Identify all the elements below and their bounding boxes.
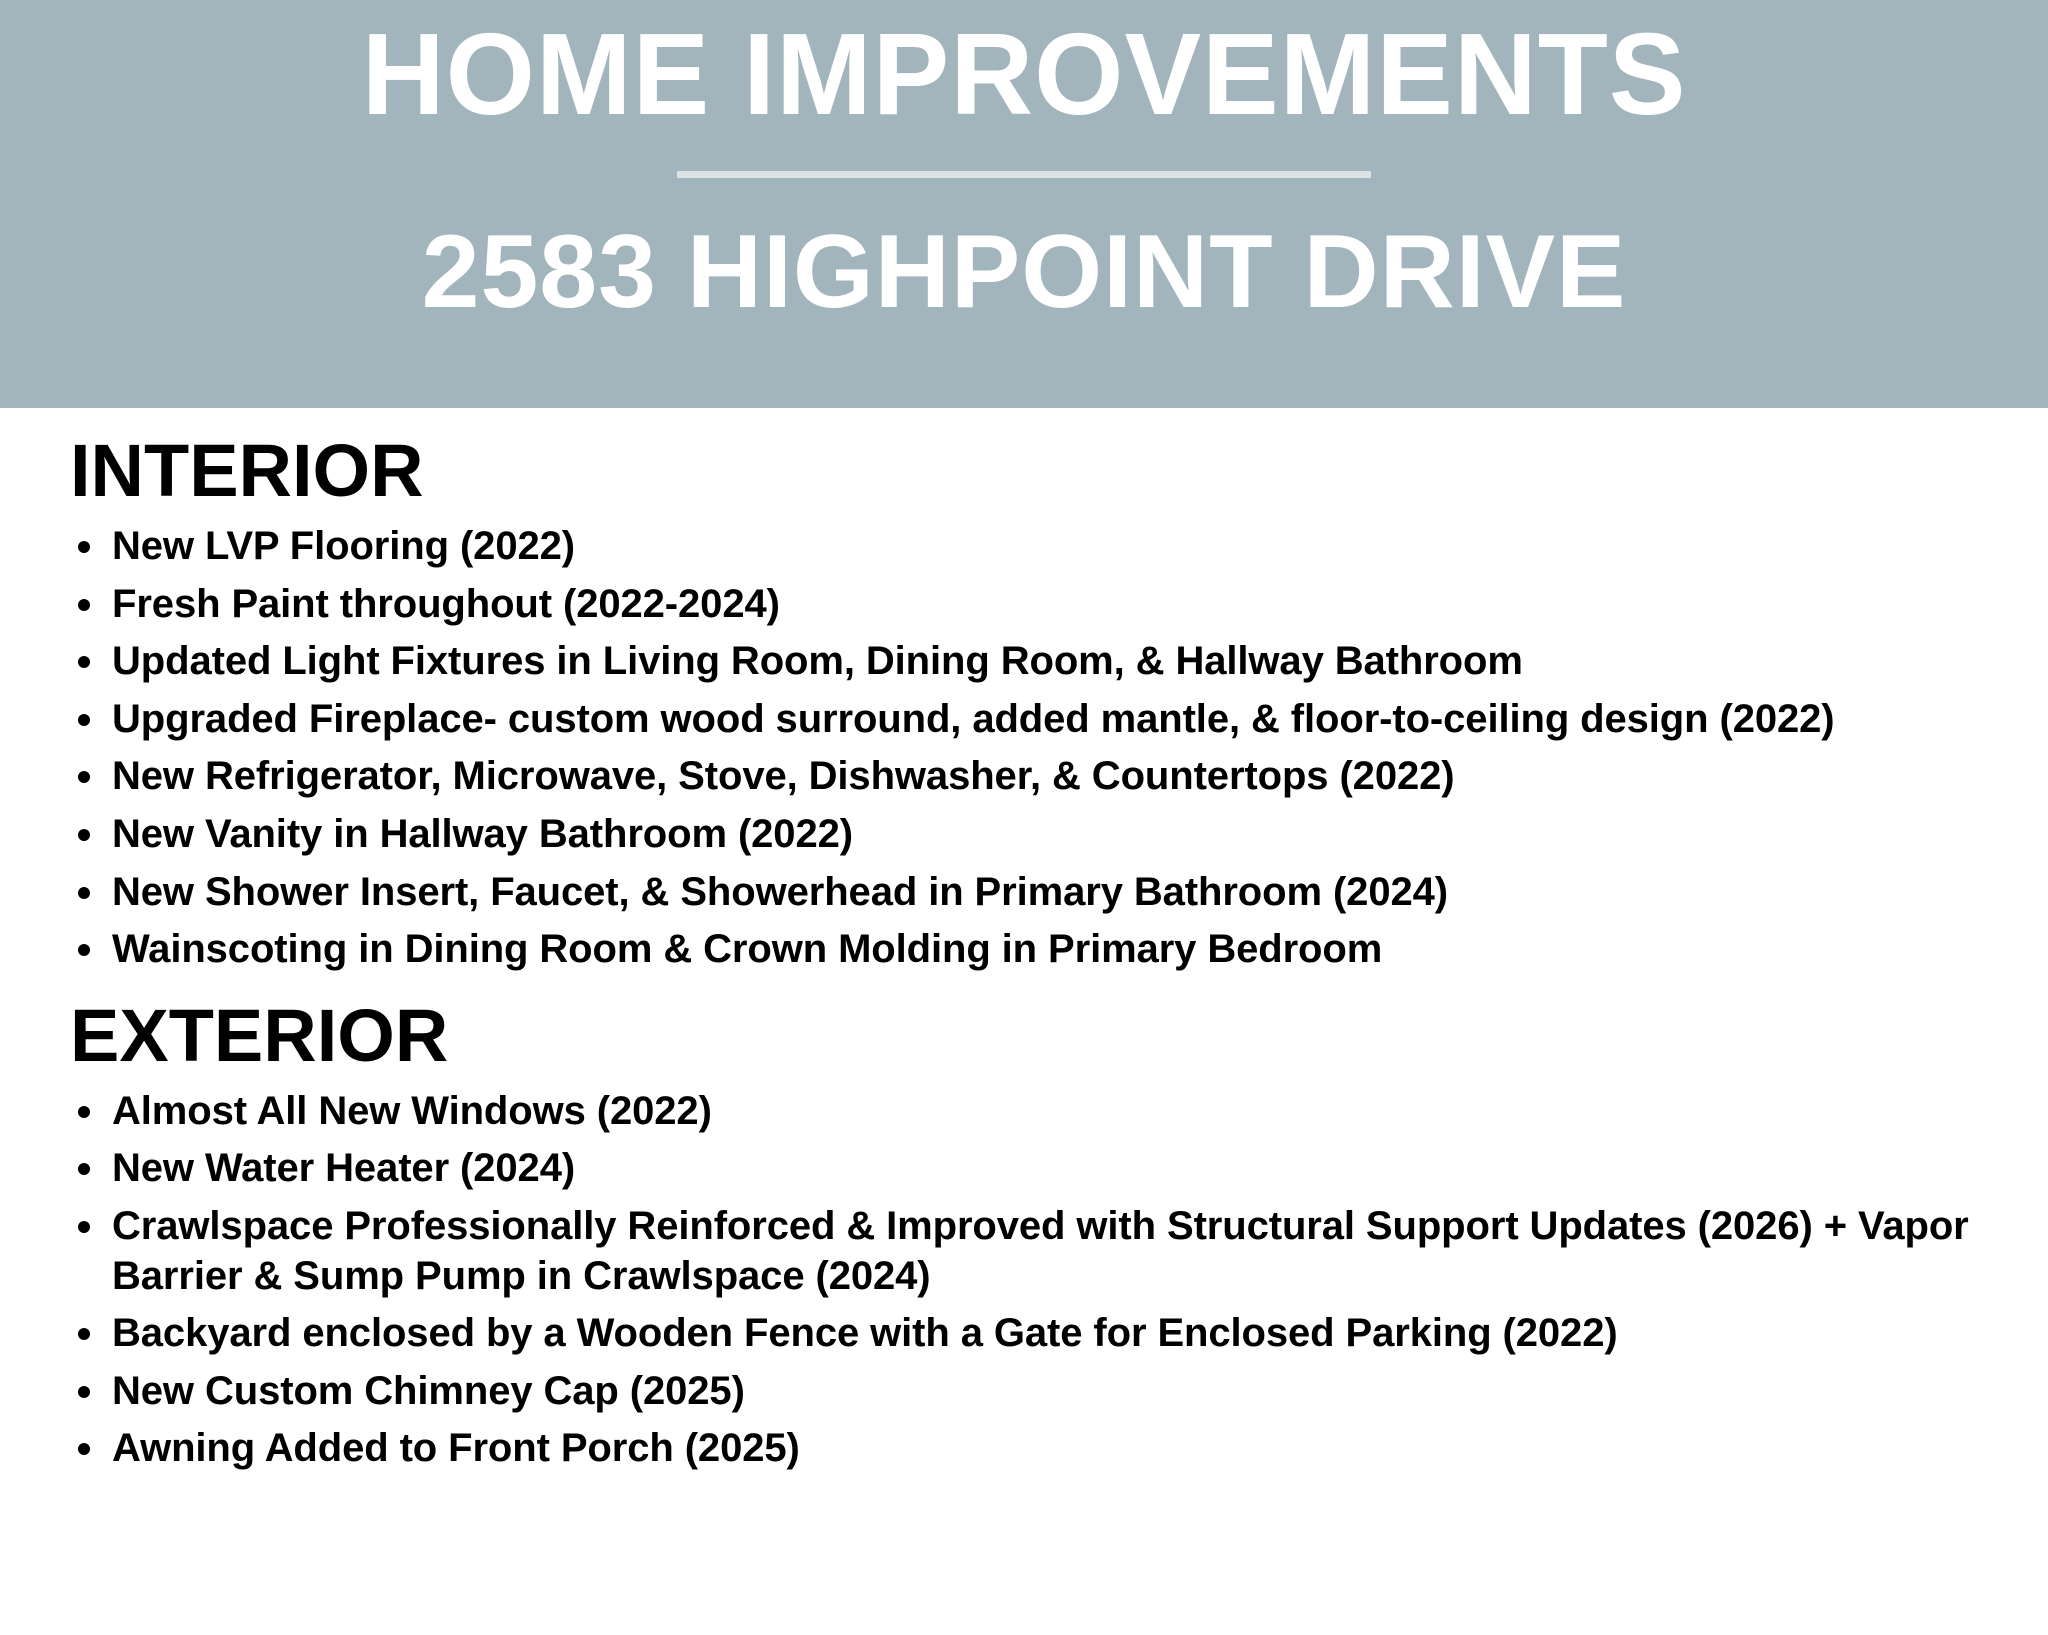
list-item: Updated Light Fixtures in Living Room, D… xyxy=(78,637,2048,687)
list-item: Backyard enclosed by a Wooden Fence with… xyxy=(78,1309,2048,1359)
flyer-page: HOME IMPROVEMENTS 2583 HIGHPOINT DRIVE I… xyxy=(0,0,2048,1635)
list-item: New Vanity in Hallway Bathroom (2022) xyxy=(78,810,2048,860)
section-interior: INTERIOR New LVP Flooring (2022) Fresh P… xyxy=(0,408,2048,975)
bullet-dot-icon xyxy=(78,1163,90,1175)
bullet-dot-icon xyxy=(78,541,90,553)
list-item: Upgraded Fireplace- custom wood surround… xyxy=(78,695,2048,745)
list-item-label: Upgraded Fireplace- custom wood surround… xyxy=(112,695,1994,745)
bullet-dot-icon xyxy=(78,887,90,899)
list-item: Almost All New Windows (2022) xyxy=(78,1087,2048,1137)
list-item-label: New Shower Insert, Faucet, & Showerhead … xyxy=(112,868,1994,918)
list-item: New Water Heater (2024) xyxy=(78,1144,2048,1194)
list-item: Wainscoting in Dining Room & Crown Moldi… xyxy=(78,925,2048,975)
section-heading-interior: INTERIOR xyxy=(70,434,2048,508)
list-item: Fresh Paint throughout (2022-2024) xyxy=(78,580,2048,630)
list-item-label: Updated Light Fixtures in Living Room, D… xyxy=(112,637,1994,687)
list-item-label: Backyard enclosed by a Wooden Fence with… xyxy=(112,1309,1994,1359)
bullet-dot-icon xyxy=(78,714,90,726)
list-item: Awning Added to Front Porch (2025) xyxy=(78,1424,2048,1474)
list-item-label: Wainscoting in Dining Room & Crown Moldi… xyxy=(112,925,1994,975)
bullet-dot-icon xyxy=(78,829,90,841)
list-item-label: New Water Heater (2024) xyxy=(112,1144,1994,1194)
header-band: HOME IMPROVEMENTS 2583 HIGHPOINT DRIVE xyxy=(0,0,2048,408)
bullet-dot-icon xyxy=(78,656,90,668)
bullet-dot-icon xyxy=(78,599,90,611)
bullet-dot-icon xyxy=(78,944,90,956)
section-exterior: EXTERIOR Almost All New Windows (2022) N… xyxy=(0,975,2048,1474)
bullet-dot-icon xyxy=(78,1106,90,1118)
bullet-dot-icon xyxy=(78,1221,90,1233)
list-item: New Custom Chimney Cap (2025) xyxy=(78,1367,2048,1417)
page-subtitle-address: 2583 HIGHPOINT DRIVE xyxy=(422,218,1627,326)
exterior-improvements-list: Almost All New Windows (2022) New Water … xyxy=(0,1087,2048,1474)
list-item: New Refrigerator, Microwave, Stove, Dish… xyxy=(78,752,2048,802)
list-item-label: New Vanity in Hallway Bathroom (2022) xyxy=(112,810,1994,860)
section-heading-exterior: EXTERIOR xyxy=(70,999,2048,1073)
page-title: HOME IMPROVEMENTS xyxy=(362,14,1687,135)
bullet-dot-icon xyxy=(78,771,90,783)
horizontal-rule-icon xyxy=(677,171,1371,178)
list-item-label: Almost All New Windows (2022) xyxy=(112,1087,1994,1137)
list-item: New LVP Flooring (2022) xyxy=(78,522,2048,572)
list-item-label: Awning Added to Front Porch (2025) xyxy=(112,1424,1994,1474)
list-item: New Shower Insert, Faucet, & Showerhead … xyxy=(78,868,2048,918)
list-item-label: New LVP Flooring (2022) xyxy=(112,522,1994,572)
list-item-label: Crawlspace Professionally Reinforced & I… xyxy=(112,1202,1994,1301)
content-area: INTERIOR New LVP Flooring (2022) Fresh P… xyxy=(0,408,2048,1635)
bullet-dot-icon xyxy=(78,1328,90,1340)
bullet-dot-icon xyxy=(78,1443,90,1455)
bullet-dot-icon xyxy=(78,1386,90,1398)
list-item-label: Fresh Paint throughout (2022-2024) xyxy=(112,580,1994,630)
list-item-label: New Refrigerator, Microwave, Stove, Dish… xyxy=(112,752,1994,802)
list-item-label: New Custom Chimney Cap (2025) xyxy=(112,1367,1994,1417)
list-item: Crawlspace Professionally Reinforced & I… xyxy=(78,1202,2048,1301)
interior-improvements-list: New LVP Flooring (2022) Fresh Paint thro… xyxy=(0,522,2048,975)
